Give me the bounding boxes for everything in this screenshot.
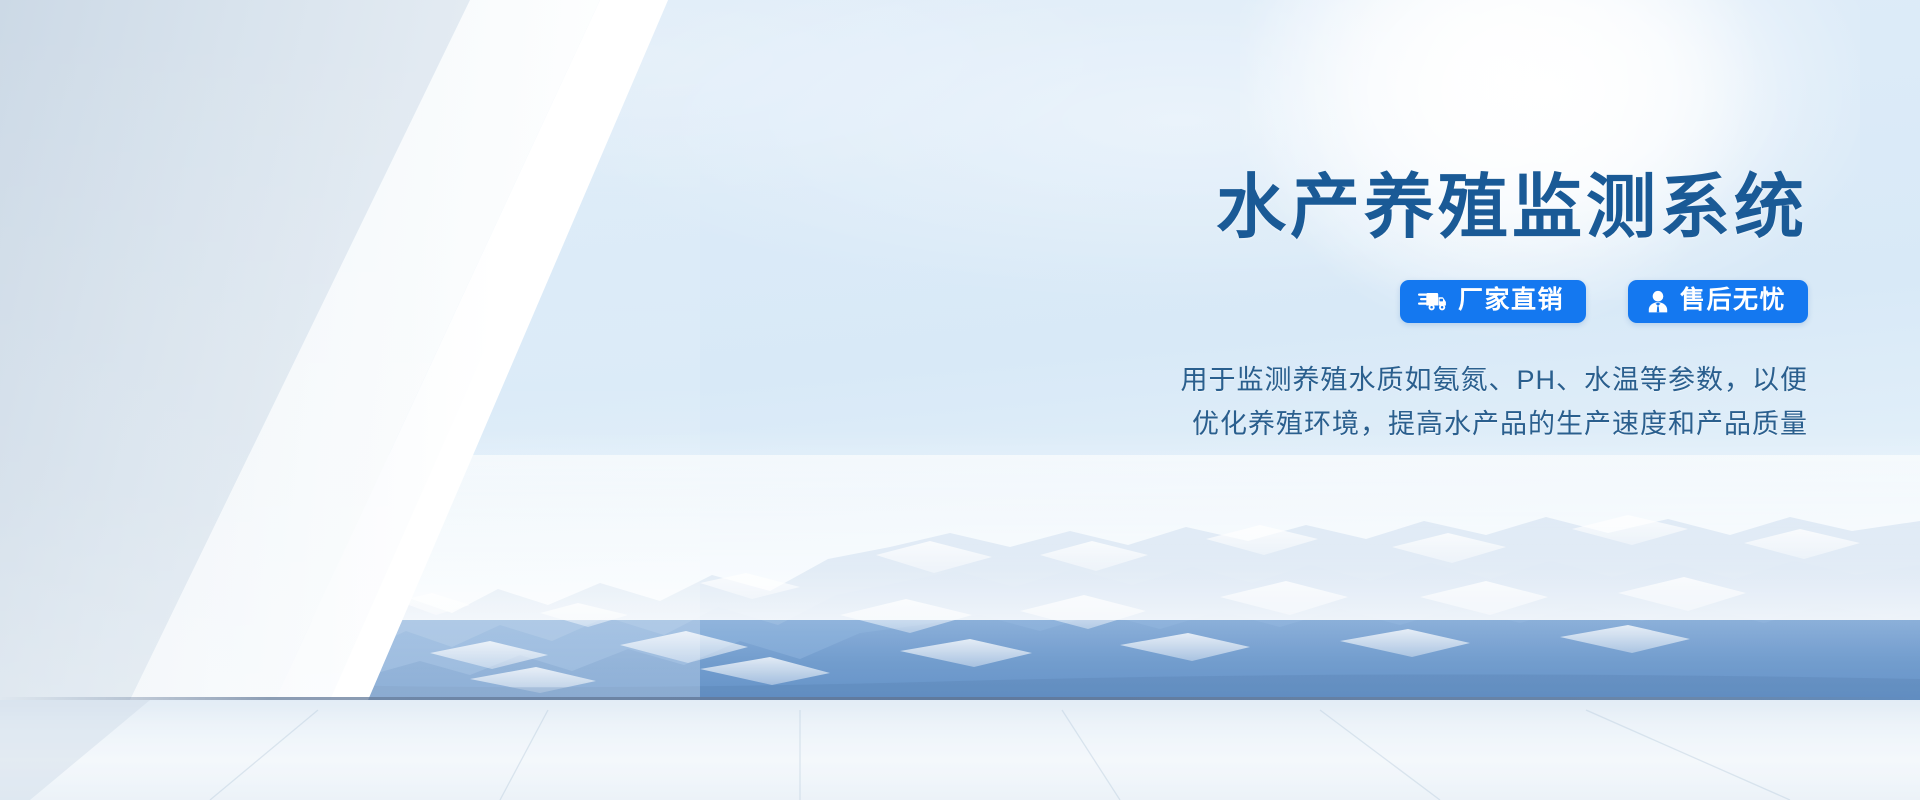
description-line-1: 用于监测养殖水质如氨氮、PH、水温等参数，以便 [848, 359, 1808, 403]
badge-factory-direct[interactable]: 厂家直销 [1400, 280, 1586, 323]
delivery-truck-icon [1418, 290, 1448, 312]
tiled-floor-perspective [0, 700, 1920, 800]
badge-group: 厂家直销 售后无忧 [848, 280, 1808, 323]
hero-banner: 水产养殖监测系统 [0, 0, 1920, 800]
page-description: 用于监测养殖水质如氨氮、PH、水温等参数，以便 优化养殖环境，提高水产品的生产速… [848, 359, 1808, 446]
badge-after-sales[interactable]: 售后无忧 [1628, 280, 1808, 323]
description-line-2: 优化养殖环境，提高水产品的生产速度和产品质量 [848, 403, 1808, 447]
badge-label: 售后无忧 [1680, 288, 1786, 314]
page-title: 水产养殖监测系统 [848, 170, 1808, 244]
hero-content: 水产养殖监测系统 [848, 170, 1808, 447]
left-architectural-wedge [0, 0, 700, 700]
badge-label: 厂家直销 [1458, 288, 1564, 314]
customer-service-person-icon [1646, 290, 1670, 313]
